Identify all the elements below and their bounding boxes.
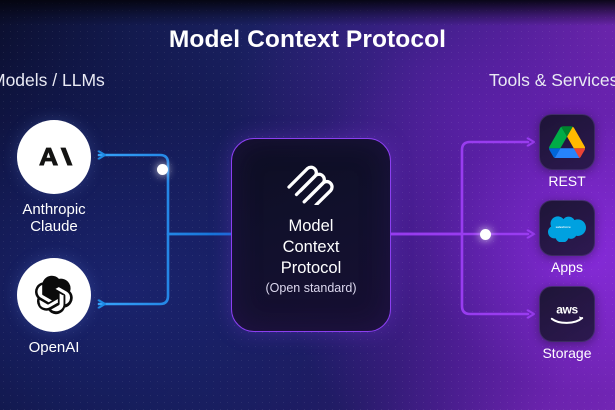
svg-text:salesforce: salesforce [556,224,571,228]
junction-dot-models [157,164,168,175]
column-header-models: Models / LLMs [0,70,105,91]
aws-logo-icon: aws [547,300,587,328]
service-label-rest: REST [507,173,615,189]
mcp-card-title: Model Context Protocol [281,216,342,278]
mcp-card[interactable]: Model Context Protocol (Open standard) [231,138,391,332]
service-label-storage: Storage [507,345,615,361]
page-title: Model Context Protocol [0,26,615,54]
salesforce-logo-icon: salesforce [548,215,586,242]
service-tile-storage[interactable]: aws [539,286,595,342]
service-tile-rest[interactable] [539,114,595,170]
column-header-services: Tools & Services [489,70,615,91]
node-label-openai: OpenAI [0,339,110,356]
google-drive-logo-icon [549,126,585,158]
link-mcp-to-openai [99,234,231,304]
mcp-card-subtitle: (Open standard) [265,281,356,295]
node-openai[interactable]: OpenAI [17,258,110,356]
svg-text:aws: aws [556,303,578,317]
openai-logo-icon [33,274,75,316]
service-tile-apps[interactable]: salesforce [539,200,595,256]
service-label-apps: Apps [507,259,615,275]
mcp-logo-icon [285,159,337,205]
avatar-openai [17,258,91,332]
node-label-anthropic: Anthropic Claude [0,201,110,236]
avatar-anthropic [17,120,91,194]
anthropic-logo-icon [32,135,76,179]
diagram-canvas: Model Context Protocol Models / LLMs Too… [0,0,615,410]
junction-dot-services [480,229,491,240]
node-anthropic-claude[interactable]: Anthropic Claude [17,120,110,236]
